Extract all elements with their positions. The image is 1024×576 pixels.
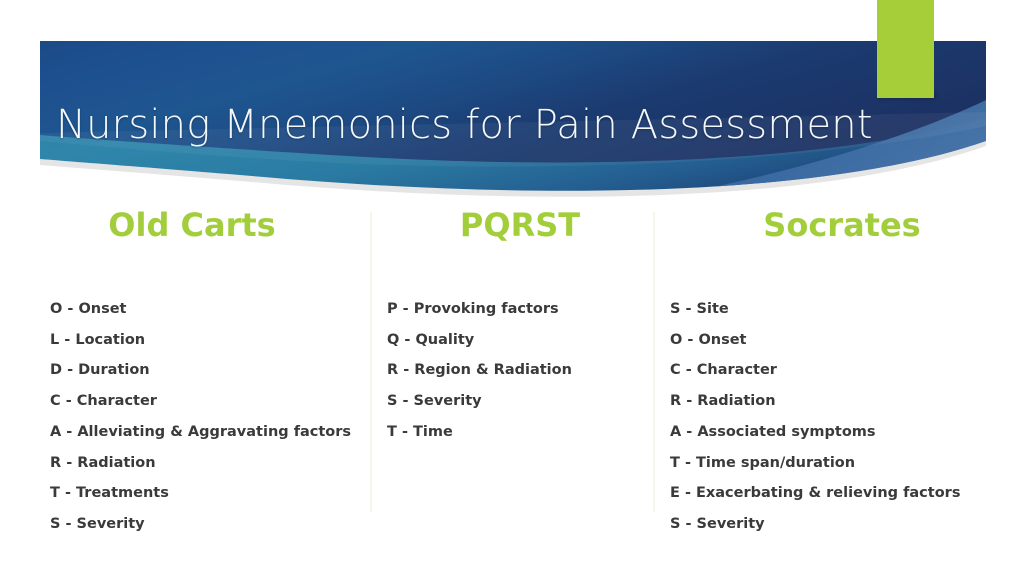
list-item: A - Alleviating & Aggravating factors <box>50 417 370 448</box>
list-item: C - Character <box>50 386 370 417</box>
list-item: C - Character <box>670 355 1024 386</box>
list-item: R - Radiation <box>50 448 370 479</box>
column-socrates: Socrates S - Site O - Onset C - Characte… <box>653 206 1024 546</box>
slide-canvas: Nursing Mnemonics for Pain Assessment Ol… <box>0 0 1024 576</box>
column-old-carts: Old Carts O - Onset L - Location D - Dur… <box>0 206 370 546</box>
list-item: A - Associated symptoms <box>670 417 1024 448</box>
column-pqrst: PQRST P - Provoking factors Q - Quality … <box>370 206 653 546</box>
list-item: E - Exacerbating & relieving factors <box>670 478 1024 509</box>
list-old-carts: O - Onset L - Location D - Duration C - … <box>50 294 370 540</box>
column-divider <box>653 212 655 512</box>
list-item: R - Region & Radiation <box>387 355 653 386</box>
column-heading-socrates: Socrates <box>670 206 1024 244</box>
page-title: Nursing Mnemonics for Pain Assessment <box>56 101 886 149</box>
list-item: S - Severity <box>50 509 370 540</box>
column-heading-pqrst: PQRST <box>387 206 653 244</box>
list-item: L - Location <box>50 325 370 356</box>
mnemonics-columns: Old Carts O - Onset L - Location D - Dur… <box>0 206 1024 546</box>
list-item: S - Severity <box>387 386 653 417</box>
list-item: Q - Quality <box>387 325 653 356</box>
column-heading-old-carts: Old Carts <box>50 206 370 244</box>
list-item: T - Time <box>387 417 653 448</box>
list-item: O - Onset <box>50 294 370 325</box>
list-item: P - Provoking factors <box>387 294 653 325</box>
list-item: T - Time span/duration <box>670 448 1024 479</box>
list-item: T - Treatments <box>50 478 370 509</box>
list-item: O - Onset <box>670 325 1024 356</box>
list-item: S - Site <box>670 294 1024 325</box>
list-item: S - Severity <box>670 509 1024 540</box>
list-pqrst: P - Provoking factors Q - Quality R - Re… <box>387 294 653 448</box>
green-accent-bar <box>877 0 934 98</box>
column-divider <box>370 212 372 512</box>
list-item: D - Duration <box>50 355 370 386</box>
list-socrates: S - Site O - Onset C - Character R - Rad… <box>670 294 1024 540</box>
list-item: R - Radiation <box>670 386 1024 417</box>
